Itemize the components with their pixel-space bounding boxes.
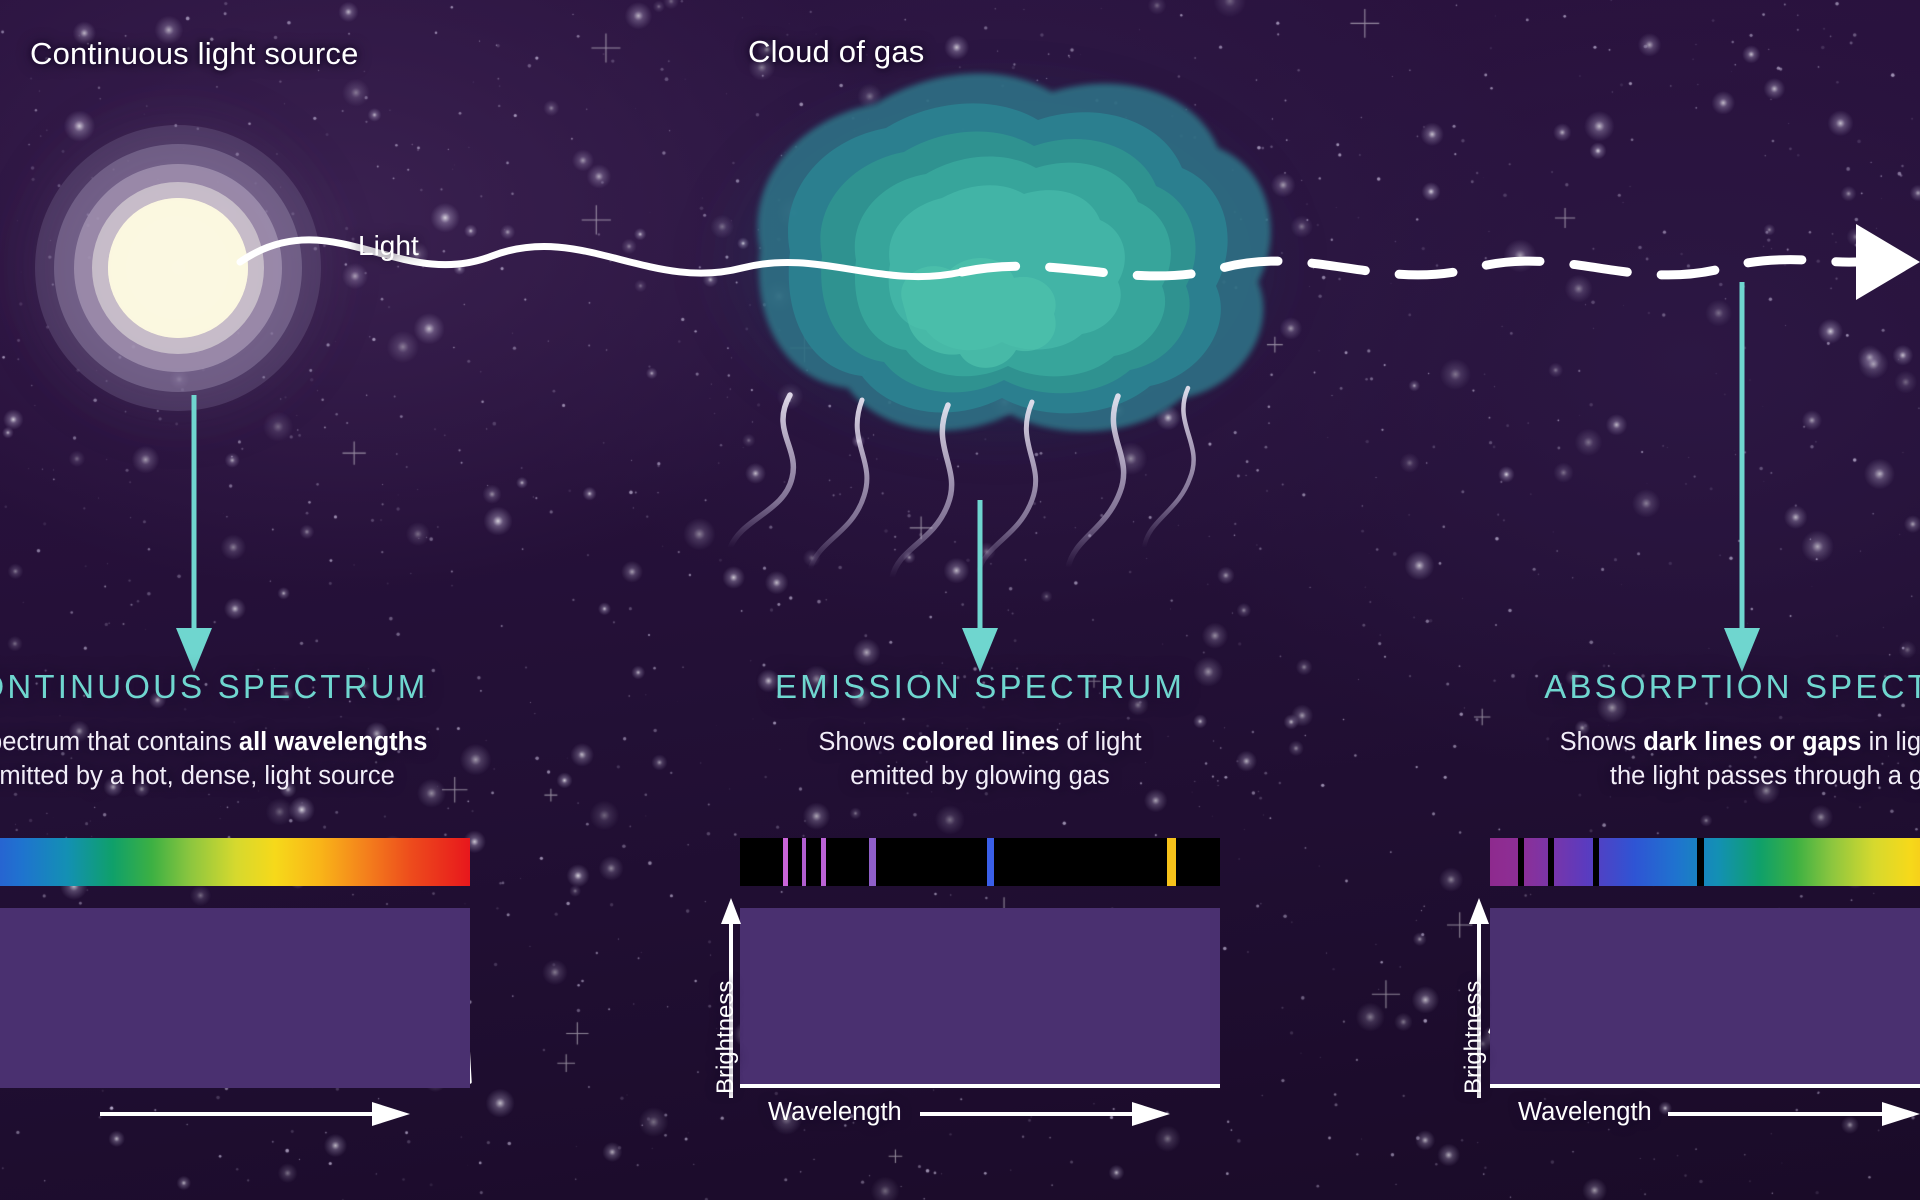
desc2-pre: emitted by a hot, dense, light source — [0, 762, 395, 790]
absorption-gap — [1697, 838, 1704, 886]
rainbow-gradient — [0, 838, 470, 886]
xaxis-line-absorption — [1490, 1080, 1920, 1092]
xaxis-label-absorption: Wavelength — [1518, 1098, 1652, 1127]
xaxis-arrow-continuous — [100, 1100, 410, 1134]
label-light: Light — [358, 230, 419, 262]
desc-bold: all wavelengths — [239, 728, 428, 756]
emission-line — [783, 838, 788, 886]
absorption-gap — [1593, 838, 1599, 886]
desc-bold: colored lines — [902, 728, 1059, 756]
emission-line — [821, 838, 826, 886]
emission-line — [802, 838, 806, 886]
graph-absorption — [1490, 908, 1920, 1088]
emission-line-group — [740, 838, 1220, 886]
graph-plot-area-emission — [740, 908, 1220, 1088]
panel-desc-absorption: Shows dark lines or gaps in light after … — [1400, 726, 1920, 794]
panel-absorption-spectrum: ABSORPTION SPECTRUM Shows dark lines or … — [1400, 668, 1920, 794]
desc-post: in light after — [1861, 728, 1920, 756]
xaxis-arrow-absorption — [1668, 1100, 1920, 1134]
panel-emission-spectrum: EMISSION SPECTRUM Shows colored lines of… — [605, 668, 1355, 794]
graph-plot-area-continuous — [0, 908, 470, 1088]
graph-plot-area-absorption — [1490, 908, 1920, 1088]
absorption-gap-group — [1490, 838, 1920, 886]
panel-title-continuous: CONTINUOUS SPECTRUM — [0, 668, 560, 706]
absorption-gap — [1548, 838, 1554, 886]
desc-pre: Shows — [818, 728, 902, 756]
emission-line — [987, 838, 994, 886]
desc2-pre: the light passes through a gas — [1610, 762, 1920, 790]
emission-line — [1167, 838, 1176, 886]
label-continuous-light-source: Continuous light source — [30, 36, 359, 72]
yaxis-label-absorption: Brightness — [1460, 981, 1488, 1094]
desc2-pre: emitted by glowing gas — [850, 762, 1109, 790]
panel-title-absorption: ABSORPTION SPECTRUM — [1400, 668, 1920, 706]
xaxis-line-emission — [740, 1080, 1220, 1092]
band-continuous-spectrum — [0, 838, 470, 886]
label-cloud-of-gas: Cloud of gas — [748, 34, 924, 70]
band-emission-spectrum — [740, 838, 1220, 886]
graph-continuous — [0, 908, 470, 1088]
desc-pre: Shows — [1560, 728, 1644, 756]
desc-pre: A spectrum that contains — [0, 728, 239, 756]
desc-bold: dark lines or gaps — [1643, 728, 1861, 756]
graph-emission — [740, 908, 1220, 1088]
panel-title-emission: EMISSION SPECTRUM — [605, 668, 1355, 706]
infographic-canvas: Continuous light source Cloud of gas Lig… — [0, 0, 1920, 1200]
desc-post: of light — [1059, 728, 1141, 756]
xaxis-arrow-emission — [920, 1100, 1170, 1134]
panel-continuous-spectrum: CONTINUOUS SPECTRUM A spectrum that cont… — [0, 668, 560, 794]
yaxis-label-emission: Brightness — [712, 981, 740, 1094]
band-absorption-spectrum — [1490, 838, 1920, 886]
absorption-gap — [1518, 838, 1524, 886]
panel-desc-emission: Shows colored lines of light emitted by … — [605, 726, 1355, 794]
xaxis-label-emission: Wavelength — [768, 1098, 902, 1127]
emission-line — [869, 838, 876, 886]
panel-desc-continuous: A spectrum that contains all wavelengths… — [0, 726, 560, 794]
